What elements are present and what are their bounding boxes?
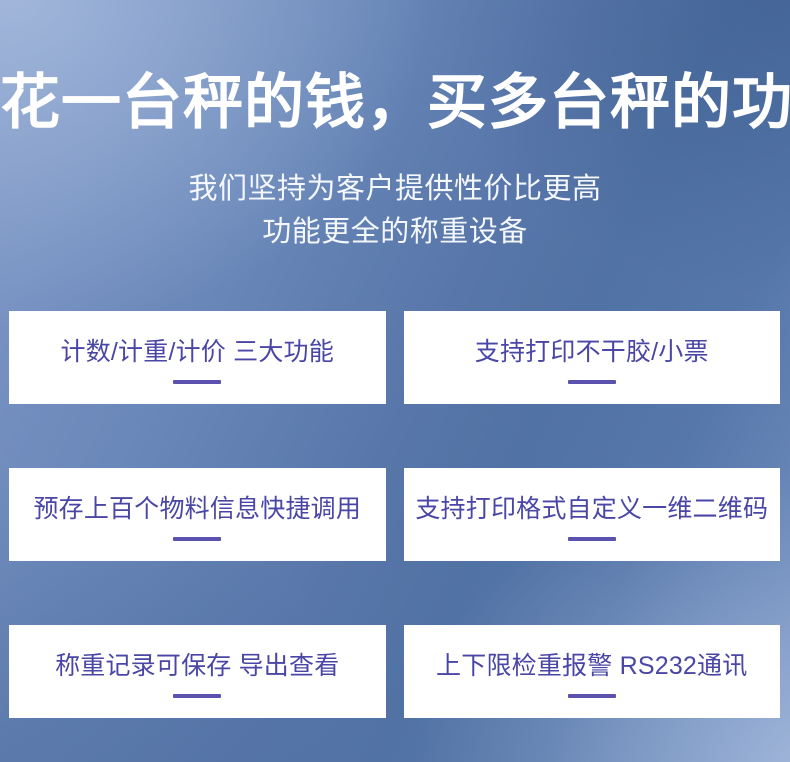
- feature-card: 支持打印格式自定义一维二维码: [404, 468, 781, 561]
- feature-grid: 计数/计重/计价 三大功能 支持打印不干胶/小票 预存上百个物料信息快捷调用 支…: [9, 311, 780, 718]
- feature-card: 支持打印不干胶/小票: [404, 311, 781, 404]
- feature-card-label: 支持打印格式自定义一维二维码: [415, 494, 768, 524]
- promo-banner: 花一台秤的钱，买多台秤的功能 我们坚持为客户提供性价比更高 功能更全的称重设备 …: [0, 0, 790, 762]
- feature-card: 预存上百个物料信息快捷调用: [9, 468, 386, 561]
- subtitle-line-1: 我们坚持为客户提供性价比更高: [0, 168, 790, 211]
- subtitle: 我们坚持为客户提供性价比更高 功能更全的称重设备: [0, 168, 790, 254]
- underline-accent: [173, 380, 221, 384]
- underline-accent: [568, 694, 616, 698]
- underline-accent: [568, 380, 616, 384]
- subtitle-line-2: 功能更全的称重设备: [0, 211, 790, 254]
- feature-card-label: 计数/计重/计价 三大功能: [61, 337, 334, 367]
- underline-accent: [568, 537, 616, 541]
- page-title: 花一台秤的钱，买多台秤的功能: [0, 66, 790, 140]
- feature-card-label: 预存上百个物料信息快捷调用: [33, 494, 361, 524]
- banner-content: 花一台秤的钱，买多台秤的功能 我们坚持为客户提供性价比更高 功能更全的称重设备 …: [0, 0, 790, 762]
- feature-card: 上下限检重报警 RS232通讯: [404, 625, 781, 718]
- feature-card-label: 支持打印不干胶/小票: [475, 337, 709, 367]
- feature-card-label: 上下限检重报警 RS232通讯: [436, 651, 747, 681]
- underline-accent: [173, 694, 221, 698]
- underline-accent: [173, 537, 221, 541]
- feature-card: 计数/计重/计价 三大功能: [9, 311, 386, 404]
- feature-card-label: 称重记录可保存 导出查看: [55, 651, 339, 681]
- feature-card: 称重记录可保存 导出查看: [9, 625, 386, 718]
